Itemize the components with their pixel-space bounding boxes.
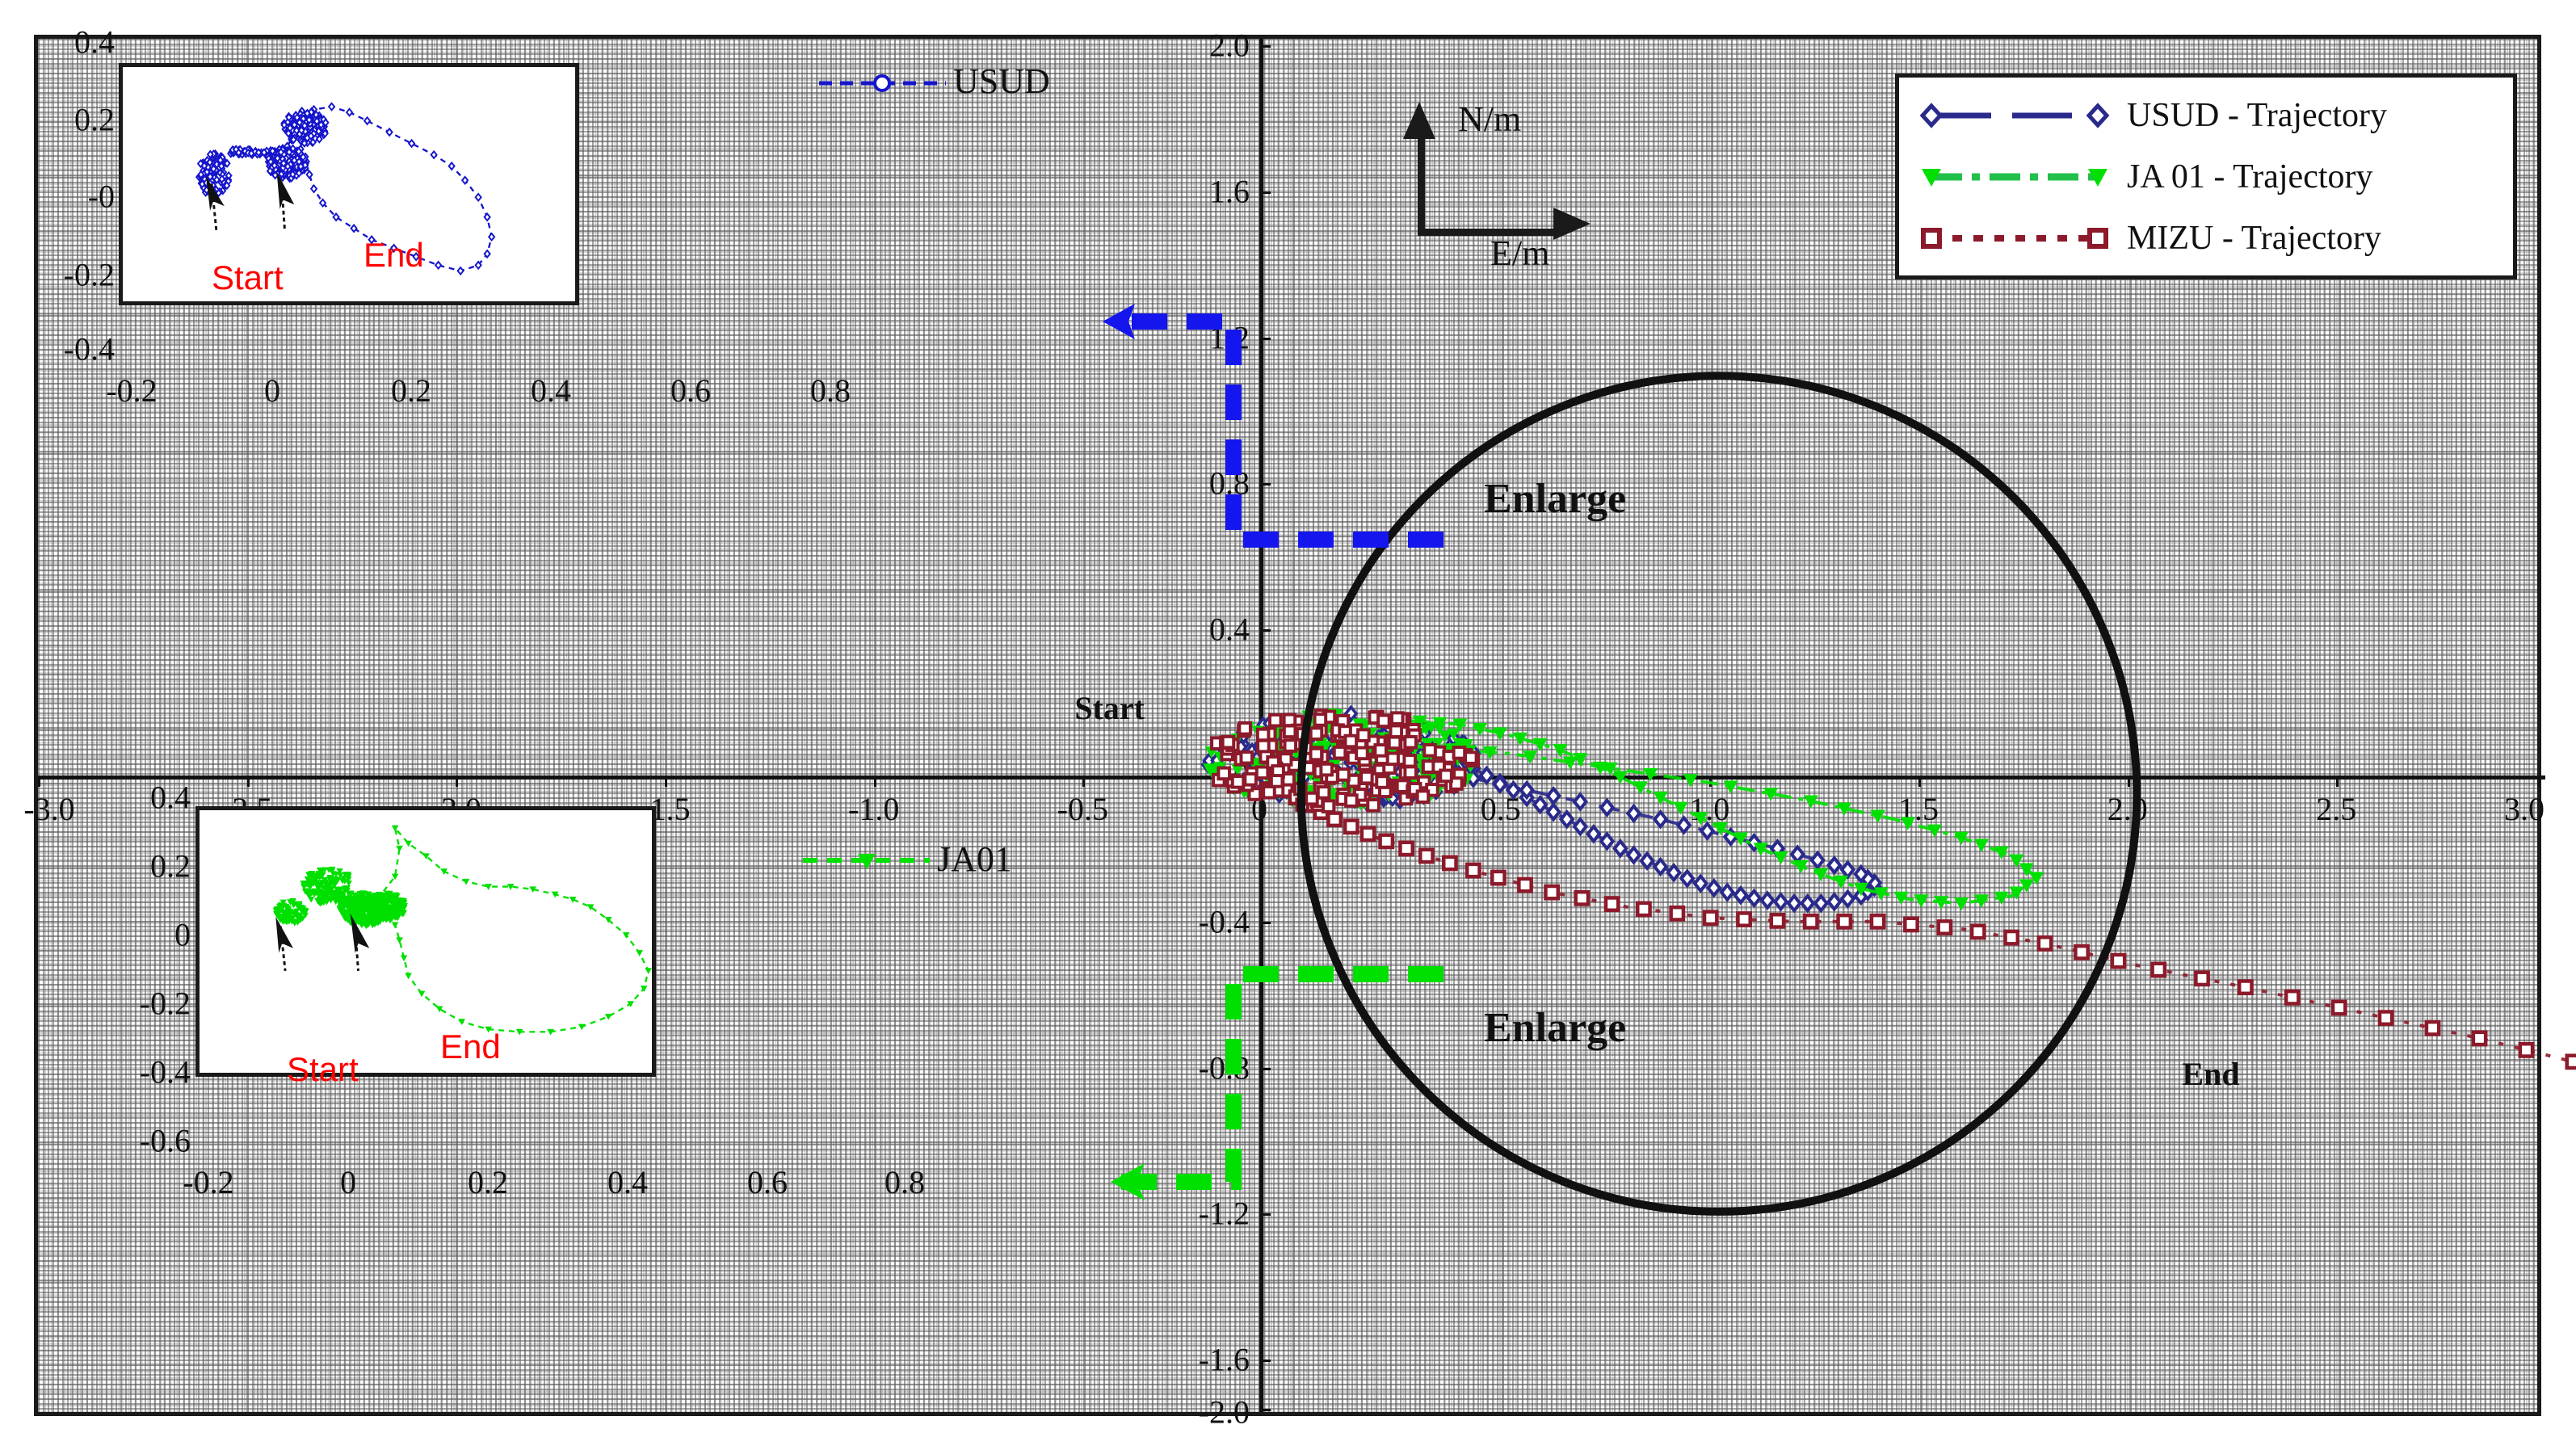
inset-usud-xtick: -0.2 <box>106 372 157 410</box>
end-label-main: End <box>2182 1055 2239 1093</box>
legend-label-usud: USUD - Trajectory <box>2127 96 2387 135</box>
inset-usud-title: USUD <box>953 61 1050 102</box>
legend-symbol-usud <box>1914 99 2116 132</box>
inset-usud-start-label: Start <box>212 258 284 297</box>
inset-usud-xtick: 0.8 <box>810 372 851 410</box>
inset-ja01-xtick: 0.8 <box>885 1163 925 1201</box>
inset-ja01-ytick: 0 <box>174 916 191 954</box>
legend-symbol-ja01 <box>1914 161 2116 193</box>
enlarge-label-bottom: Enlarge <box>1484 1004 1626 1052</box>
inset-usud-xtick: 0.6 <box>670 372 711 410</box>
legend-box: USUD - Trajectory JA 01 - Trajectory <box>1895 74 2517 279</box>
inset-ja01-canvas <box>200 810 652 1073</box>
inset-usud-canvas <box>123 67 575 301</box>
legend-label-ja01: JA 01 - Trajectory <box>2127 158 2373 196</box>
inset-usud-ytick: 0.2 <box>74 101 115 139</box>
inset-usud-xtick: 0.2 <box>391 372 431 410</box>
legend-item-mizu[interactable]: MIZU - Trajectory <box>1914 212 2498 265</box>
legend-label-mizu: MIZU - Trajectory <box>2127 219 2381 258</box>
inset-ja01-xtick: 0.2 <box>468 1163 508 1201</box>
ja01-connector <box>878 919 1460 1242</box>
legend-item-usud[interactable]: USUD - Trajectory <box>1914 89 2498 142</box>
legend-item-ja01[interactable]: JA 01 - Trajectory <box>1914 150 2498 204</box>
inset-usud-xtick: 0.4 <box>531 372 571 410</box>
inset-usud-ytick: -0.4 <box>64 330 115 368</box>
inset-ja01-end-label: End <box>440 1028 501 1066</box>
inset-ja01-legend-line <box>800 848 933 872</box>
usud-connector <box>1007 273 1460 580</box>
inset-ja01-xtick: 0.6 <box>747 1163 788 1201</box>
inset-usud <box>119 63 579 305</box>
inset-ja01-ytick: 0.4 <box>150 779 191 817</box>
inset-usud-ytick: 0.4 <box>74 23 115 61</box>
inset-ja01-ytick: 0.2 <box>150 847 191 885</box>
enlarge-label-top: Enlarge <box>1484 475 1626 523</box>
inset-ja01-title: JA01 <box>937 838 1012 880</box>
inset-ja01-xtick: 0 <box>340 1163 356 1201</box>
chart-root: -3.0 -2.5 -2.0 -1.5 -1.0 -0.5 0 0.5 1.0 … <box>0 0 2576 1450</box>
inset-usud-legend-line <box>816 71 949 95</box>
inset-usud-ytick: -0.2 <box>64 256 115 294</box>
inset-ja01-start-label: Start <box>287 1050 359 1089</box>
inset-ja01-xtick: 0.4 <box>607 1163 648 1201</box>
inset-ja01-ytick: -0.4 <box>140 1053 191 1091</box>
inset-usud-end-label: End <box>363 236 424 275</box>
start-label-main: Start <box>1074 689 1145 727</box>
inset-usud-xtick: 0 <box>264 372 280 410</box>
inset-usud-ytick: -0 <box>88 178 115 216</box>
legend-symbol-mizu <box>1914 222 2116 254</box>
inset-ja01-ytick: -0.2 <box>140 985 191 1023</box>
inset-ja01-xtick: -0.2 <box>183 1163 233 1201</box>
inset-ja01-ytick: -0.6 <box>140 1122 191 1160</box>
inset-ja01 <box>195 806 656 1077</box>
